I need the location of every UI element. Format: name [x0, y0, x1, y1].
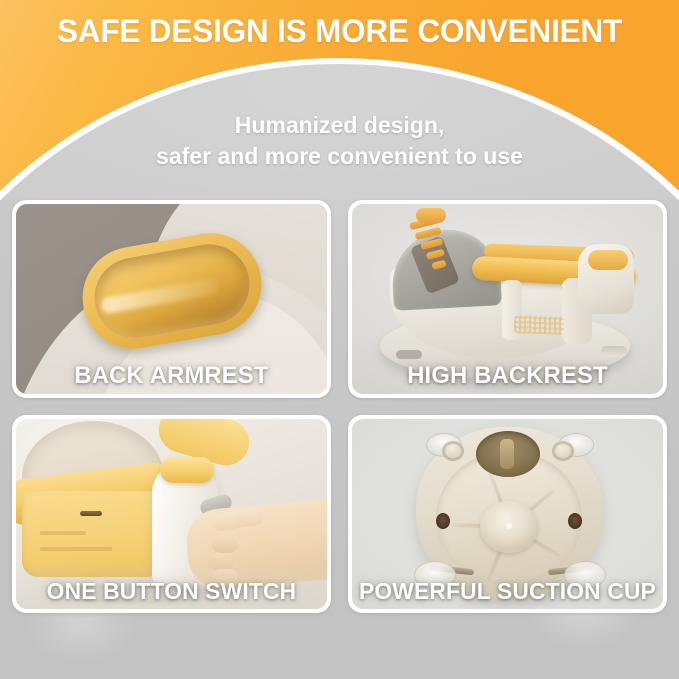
card-caption-back-armrest: BACK ARMREST — [18, 362, 326, 390]
subtitle-line-2: safer and more convenient to use — [0, 141, 679, 172]
subtitle-line-1: Humanized design, — [235, 112, 445, 138]
product-infographic: SAFE DESIGN IS MORE CONVENIENT Humanized… — [0, 0, 679, 679]
seat-drain-mesh — [514, 315, 565, 335]
seat-side-pad — [588, 250, 628, 270]
feature-card-high-backrest[interactable]: HIGH BACKREST — [348, 200, 667, 398]
feature-card-back-armrest[interactable]: BACK ARMREST — [12, 200, 331, 398]
card-caption-one-button-switch: ONE BUTTON SWITCH — [18, 577, 326, 605]
headline-title: SAFE DESIGN IS MORE CONVENIENT — [5, 12, 674, 50]
screw-boss-left — [442, 441, 464, 461]
ratchet-step — [431, 260, 446, 270]
card-image-high-backrest: HIGH BACKREST — [352, 204, 663, 394]
headline-subtitle: Humanized design, safer and more conveni… — [0, 110, 679, 172]
base-hand-hole — [601, 346, 627, 357]
card-image-back-armrest: BACK ARMREST — [16, 204, 327, 394]
backrest-top-knob — [416, 208, 446, 223]
base-foot-left — [396, 350, 422, 359]
card-image-one-button-switch: ONE BUTTON SWITCH — [16, 419, 327, 609]
card-caption-high-backrest: HIGH BACKREST — [354, 362, 662, 390]
feature-card-powerful-suction-cup[interactable]: POWERFUL SUCTION CUP — [348, 415, 667, 613]
suction-release-port-left — [436, 513, 450, 529]
panel-groove-upper — [40, 531, 86, 535]
underside-neck-clip — [500, 439, 514, 469]
card-image-powerful-suction-cup: POWERFUL SUCTION CUP — [352, 419, 663, 609]
feature-card-one-button-switch[interactable]: ONE BUTTON SWITCH — [12, 415, 331, 613]
suction-release-port-right — [568, 513, 582, 529]
feature-card-grid: BACK ARMREST — [12, 200, 667, 640]
ratchet-step — [420, 238, 443, 250]
screw-boss-right — [552, 441, 574, 461]
hand-knuckle — [212, 535, 238, 553]
underside-center-pin — [506, 523, 512, 529]
card-caption-powerful-suction-cup: POWERFUL SUCTION CUP — [354, 577, 662, 605]
ratchet-step — [426, 249, 445, 260]
one-button-switch[interactable] — [160, 457, 214, 483]
panel-vent-slot — [80, 511, 102, 516]
panel-groove-lower — [40, 547, 112, 551]
